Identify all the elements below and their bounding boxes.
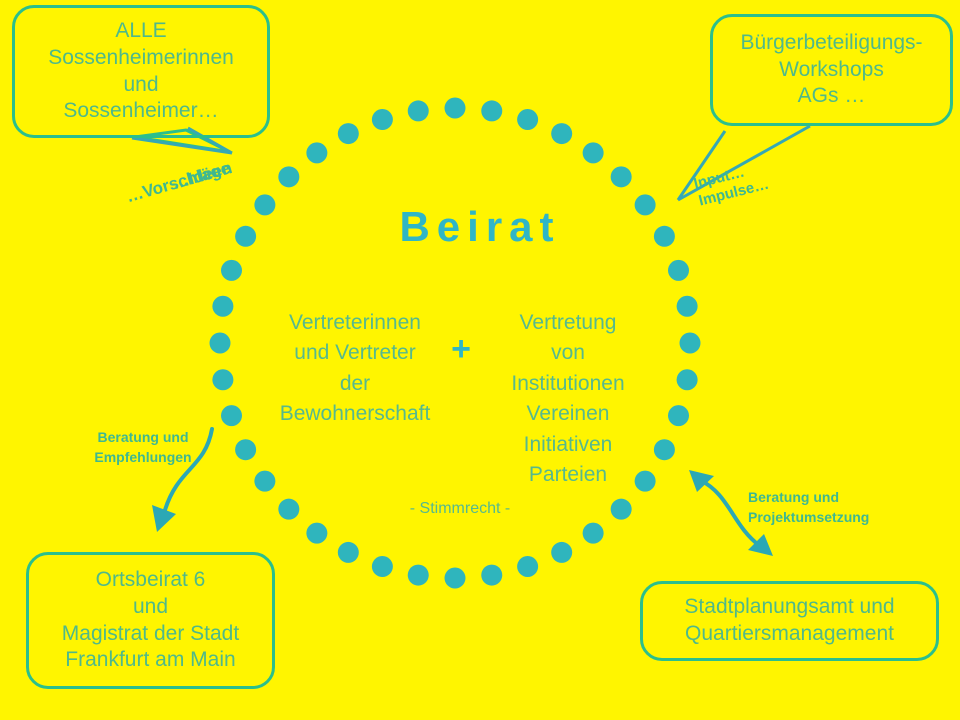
ring-dot bbox=[481, 565, 502, 586]
annotation-beratung-projektumsetzung: Beratung undProjektumsetzung bbox=[748, 487, 918, 528]
ring-dot bbox=[517, 556, 538, 577]
ring-dot bbox=[680, 333, 701, 354]
ring-dot bbox=[445, 98, 466, 119]
ring-dot bbox=[408, 100, 429, 121]
ring-dot bbox=[221, 260, 242, 281]
annotation-vorschlaege: …Vorschläge bbox=[124, 158, 233, 207]
box-stadtplanung: Stadtplanungsamt undQuartiersmanagement bbox=[640, 581, 939, 661]
ring-dot bbox=[235, 439, 256, 460]
ring-dot bbox=[306, 142, 327, 163]
ring-dot bbox=[611, 166, 632, 187]
ring-dot bbox=[372, 109, 393, 130]
ring-dot bbox=[677, 369, 698, 390]
advice-arrow-right-head-bottom bbox=[748, 534, 773, 556]
ring-dot bbox=[212, 296, 233, 317]
ring-dot bbox=[221, 405, 242, 426]
advice-arrow-left-head bbox=[152, 505, 176, 532]
ring-dot bbox=[278, 166, 299, 187]
box-stadtplanung-text: Stadtplanungsamt undQuartiersmanagement bbox=[643, 594, 936, 648]
ring-dot bbox=[583, 142, 604, 163]
ring-dot bbox=[611, 499, 632, 520]
council-members-institutions: VertretungvonInstitutionenVereinenInitia… bbox=[470, 308, 666, 491]
ring-dot bbox=[254, 471, 275, 492]
box-ortsbeirat: Ortsbeirat 6undMagistrat der StadtFrankf… bbox=[26, 552, 275, 689]
ring-dot bbox=[408, 565, 429, 586]
ring-dot bbox=[551, 123, 572, 144]
ring-dot bbox=[338, 123, 359, 144]
speech-bubble-citizens: ALLESossenheimerinnenundSossenheimer… bbox=[12, 5, 270, 138]
ring-dot bbox=[306, 523, 327, 544]
speech-bubble-workshops: Bürgerbeteiligungs-WorkshopsAGs … bbox=[710, 14, 953, 126]
council-members-residents: Vertreterinnenund VertreterderBewohnersc… bbox=[262, 308, 448, 430]
diagram-title: Beirat bbox=[0, 203, 960, 251]
ring-dot bbox=[668, 260, 689, 281]
ring-dot bbox=[583, 523, 604, 544]
ring-dot bbox=[677, 296, 698, 317]
voting-rights-note: - Stimmrecht - bbox=[340, 500, 580, 518]
box-ortsbeirat-text: Ortsbeirat 6undMagistrat der StadtFrankf… bbox=[29, 567, 272, 675]
ring-dot bbox=[278, 499, 299, 520]
ring-dot bbox=[212, 369, 233, 390]
ring-dot bbox=[668, 405, 689, 426]
advice-arrow-right-head-top bbox=[689, 470, 714, 492]
ring-dot bbox=[517, 109, 538, 130]
ring-dot bbox=[372, 556, 393, 577]
speech-bubble-workshops-text: Bürgerbeteiligungs-WorkshopsAGs … bbox=[713, 30, 950, 111]
ring-dot bbox=[338, 542, 359, 563]
annotation-beratung-empfehlungen: Beratung undEmpfehlungen bbox=[78, 427, 208, 468]
ring-dot bbox=[210, 333, 231, 354]
ring-dot bbox=[445, 568, 466, 589]
ring-dot bbox=[481, 100, 502, 121]
ring-dot bbox=[551, 542, 572, 563]
speech-bubble-citizens-text: ALLESossenheimerinnenundSossenheimer… bbox=[15, 18, 267, 126]
diagram-canvas: ALLESossenheimerinnenundSossenheimer… Bü… bbox=[0, 0, 960, 720]
